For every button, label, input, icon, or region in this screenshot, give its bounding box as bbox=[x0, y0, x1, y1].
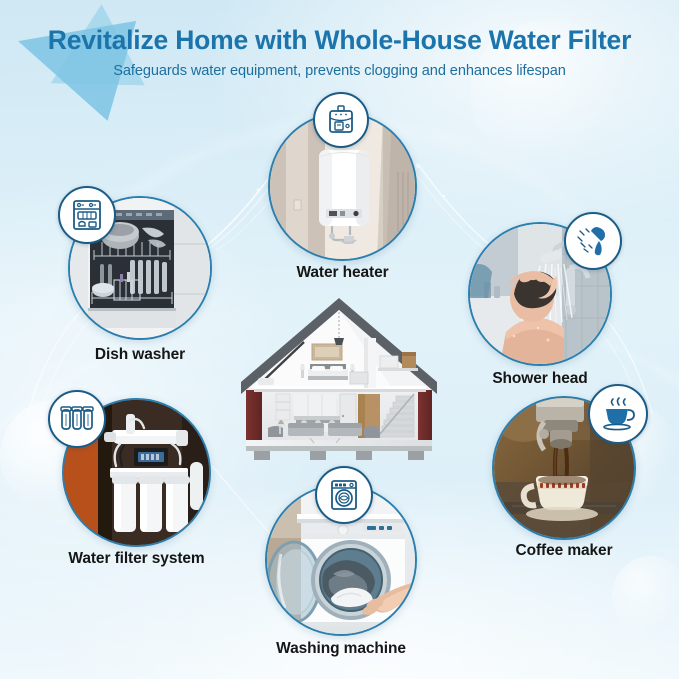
coffee-cup-glyph bbox=[600, 397, 636, 431]
page-title: Revitalize Home with Whole-House Water F… bbox=[0, 26, 679, 55]
callout-water-heater[interactable]: Water heater bbox=[268, 112, 417, 261]
callout-washing-machine[interactable]: Washing machine bbox=[265, 484, 417, 636]
callout-label-water-heater: Water heater bbox=[296, 264, 388, 282]
house-cutaway-svg bbox=[232, 290, 447, 470]
house-cutaway-illustration bbox=[232, 290, 447, 470]
callout-label-washing-machine: Washing machine bbox=[276, 640, 406, 658]
callout-label-water-filter-system: Water filter system bbox=[68, 550, 204, 568]
washing-machine-icon bbox=[315, 466, 373, 524]
shower-head-glyph bbox=[575, 223, 611, 259]
infographic-poster: Revitalize Home with Whole-House Water F… bbox=[0, 0, 679, 679]
callout-label-dishwasher: Dish washer bbox=[95, 346, 185, 364]
background-glow-blob bbox=[612, 556, 679, 634]
dishwasher-icon bbox=[58, 186, 116, 244]
water-heater-glyph bbox=[325, 104, 357, 136]
callout-label-shower-head: Shower head bbox=[492, 370, 587, 388]
water-filter-cartridges-icon bbox=[48, 390, 106, 448]
callout-coffee-maker[interactable]: Coffee maker bbox=[492, 396, 636, 540]
header: Revitalize Home with Whole-House Water F… bbox=[0, 26, 679, 79]
callout-dishwasher[interactable]: Dish washer bbox=[68, 196, 212, 340]
dishwasher-glyph bbox=[70, 198, 104, 232]
callout-label-coffee-maker: Coffee maker bbox=[515, 542, 612, 560]
shower-head-icon bbox=[564, 212, 622, 270]
page-subtitle: Safeguards water equipment, prevents clo… bbox=[0, 63, 679, 79]
water-filter-cartridges-glyph bbox=[59, 403, 95, 435]
coffee-cup-icon bbox=[588, 384, 648, 444]
callout-water-filter-system[interactable]: Water filter system bbox=[62, 398, 211, 547]
washing-machine-glyph bbox=[327, 478, 361, 512]
callout-shower-head[interactable]: Shower head bbox=[468, 222, 612, 366]
water-heater-icon bbox=[313, 92, 369, 148]
